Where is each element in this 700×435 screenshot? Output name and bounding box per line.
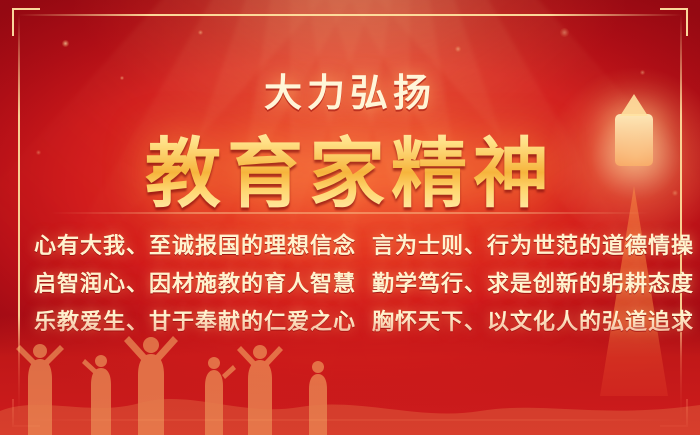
bokeh-particle	[560, 28, 569, 37]
bokeh-particle	[455, 46, 461, 52]
people-silhouette-icon	[0, 325, 700, 435]
slogan-left-2: 启智润心、因材施教的育人智慧	[34, 266, 356, 298]
divider	[50, 212, 650, 214]
slogan-right-2: 勤学笃行、求是创新的躬耕态度	[372, 266, 694, 298]
slogan-row: 心有大我、至诚报国的理想信念 言为士则、行为世范的道德情操	[34, 228, 676, 260]
slogan-row: 启智润心、因材施教的育人智慧 勤学笃行、求是创新的躬耕态度	[34, 266, 676, 298]
slogan-left-1: 心有大我、至诚报国的理想信念	[34, 228, 356, 260]
slogan-right-1: 言为士则、行为世范的道德情操	[372, 228, 694, 260]
headline-big: 教育家精神	[0, 112, 700, 222]
bokeh-particle	[198, 30, 203, 35]
bokeh-particle	[62, 40, 69, 47]
headline-small: 大力弘扬	[0, 62, 700, 117]
poster-canvas: 大力弘扬 教育家精神 心有大我、至诚报国的理想信念 言为士则、行为世范的道德情操…	[0, 0, 700, 435]
